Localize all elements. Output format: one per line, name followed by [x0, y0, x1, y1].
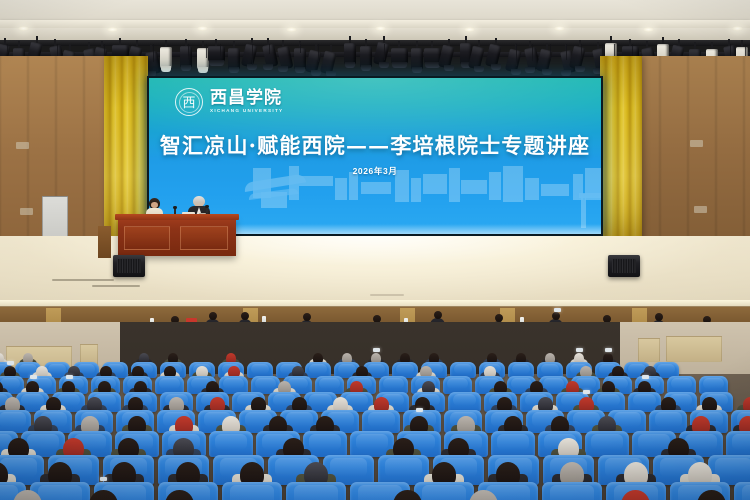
- podium: [98, 226, 111, 258]
- skyline-building: [525, 178, 539, 200]
- front-row-guest-head: [655, 313, 663, 321]
- light-lens: [181, 65, 191, 71]
- ceiling-downlight: [554, 26, 565, 31]
- skyline-building: [361, 182, 391, 194]
- light-cable: [153, 44, 154, 62]
- front-row-guest-head: [209, 312, 217, 320]
- auditorium-seat: [286, 482, 346, 500]
- lecture-date: 2026年3月: [149, 165, 601, 177]
- university-name-en: XICHANG UNIVERSITY: [210, 109, 283, 114]
- skyline-building: [335, 178, 347, 200]
- ceiling-downlight: [643, 27, 654, 32]
- university-wordmark: 西昌学院 XICHANG UNIVERSITY: [210, 90, 283, 114]
- phone-screen: [416, 408, 423, 412]
- light-cable: [550, 44, 551, 59]
- wall-plaque: [20, 208, 33, 215]
- ceiling-downlight: [197, 26, 208, 31]
- led-screen-surface: 西 西昌学院 XICHANG UNIVERSITY 智汇凉山·赋能西院——李培根…: [149, 78, 601, 234]
- light-lens: [511, 69, 521, 75]
- table-top: [115, 214, 239, 220]
- light-lens: [491, 64, 501, 70]
- skyline-building: [411, 178, 421, 202]
- front-row-guest-head: [241, 312, 249, 320]
- light-lens: [229, 67, 239, 73]
- skyline-arch-leg: [581, 194, 586, 228]
- phone-screen: [100, 477, 107, 481]
- phone-screen: [30, 375, 37, 379]
- skyline-building: [423, 174, 447, 194]
- phone-screen: [66, 375, 73, 379]
- phone-screen: [605, 348, 612, 352]
- stage-monitor-right: [608, 255, 640, 277]
- front-row-guest-head: [434, 311, 442, 319]
- auditorium-seat: [362, 410, 400, 433]
- light-cable: [252, 44, 253, 65]
- acoustic-panel: [638, 338, 660, 362]
- auditorium-seat: [734, 482, 750, 500]
- acoustic-panel: [666, 336, 722, 362]
- table-panel: [124, 226, 170, 250]
- phone-screen: [576, 348, 583, 352]
- front-row-guest-head: [552, 312, 560, 320]
- light-cable: [581, 44, 582, 59]
- auditorium-seat: [448, 392, 481, 412]
- light-lens: [444, 65, 454, 71]
- light-cable: [7, 44, 8, 52]
- university-seal-icon: 西: [175, 88, 203, 116]
- auditorium-seat: [414, 482, 474, 500]
- light-cable: [318, 44, 319, 62]
- light-cable: [220, 44, 221, 58]
- light-lens: [561, 70, 571, 76]
- light-lens: [474, 66, 484, 72]
- light-lens: [379, 62, 389, 68]
- light-cable: [532, 44, 533, 61]
- light-cable: [188, 44, 189, 60]
- light-lens: [209, 60, 224, 66]
- floor-cable: [52, 279, 114, 281]
- wall-plaque: [16, 142, 29, 149]
- light-cable: [269, 44, 270, 54]
- ceiling-downlight: [18, 26, 29, 31]
- back-wall-left: [0, 56, 112, 266]
- wall-plaque: [694, 206, 707, 213]
- light-lens: [345, 62, 355, 68]
- light-lens: [278, 66, 288, 72]
- stage-monitor-left: [113, 255, 145, 277]
- light-lens: [525, 67, 535, 73]
- light-lens: [392, 62, 407, 68]
- phone-screen: [583, 390, 590, 394]
- auditorium-seat: [542, 482, 602, 500]
- auditorium-seat: [222, 482, 282, 500]
- light-lens: [575, 66, 585, 72]
- auditorium-seat: [491, 431, 535, 457]
- auditorium-seat: [649, 410, 687, 433]
- auditorium-screenshot: 西 西昌学院 XICHANG UNIVERSITY 智汇凉山·赋能西院——李培根…: [0, 0, 750, 500]
- ceiling-downlight: [286, 27, 297, 32]
- ceiling-downlight: [732, 26, 743, 31]
- light-lens: [542, 69, 552, 75]
- auditorium-seat: [378, 455, 429, 485]
- phone-screen: [642, 375, 649, 379]
- wall-plaque: [690, 140, 703, 147]
- auditorium-seat: [585, 431, 629, 457]
- phone-screen: [7, 361, 14, 365]
- back-wall-right: [632, 56, 750, 266]
- auditorium-seat: [726, 431, 750, 457]
- skyline-arch-beam: [579, 193, 601, 198]
- lecture-title: 智汇凉山·赋能西院——李培根院士专题讲座: [149, 130, 601, 160]
- table-panel: [180, 226, 228, 250]
- light-cable: [516, 44, 517, 66]
- front-row-guest-head: [303, 313, 311, 321]
- light-lens: [412, 67, 422, 73]
- light-lens: [263, 64, 273, 70]
- light-lens: [161, 66, 171, 72]
- phone-screen: [554, 308, 561, 312]
- front-row-guest-head: [495, 314, 503, 322]
- light-cable: [566, 44, 567, 60]
- led-screen: 西 西昌学院 XICHANG UNIVERSITY 智汇凉山·赋能西院——李培根…: [147, 76, 603, 236]
- light-lens: [361, 65, 371, 71]
- light-cable: [300, 44, 301, 53]
- skyline-building: [461, 180, 487, 194]
- light-cable: [384, 44, 385, 60]
- university-name-cn: 西昌学院: [210, 90, 283, 107]
- floor-cable: [370, 294, 404, 296]
- ceiling-downlight: [375, 26, 386, 31]
- floor-cable: [92, 285, 140, 287]
- audience-house: [0, 322, 750, 500]
- university-logo: 西 西昌学院 XICHANG UNIVERSITY: [175, 88, 283, 116]
- skyline-building: [541, 184, 569, 196]
- light-lens: [295, 67, 305, 73]
- light-cable: [206, 44, 207, 58]
- light-lens: [198, 67, 208, 73]
- auditorium-seat: [0, 410, 31, 433]
- auditorium-seat: [209, 431, 253, 457]
- presidium-table: [118, 218, 236, 256]
- phone-screen: [373, 348, 380, 352]
- stage-curtain-right: [600, 56, 642, 256]
- light-cable: [104, 44, 105, 57]
